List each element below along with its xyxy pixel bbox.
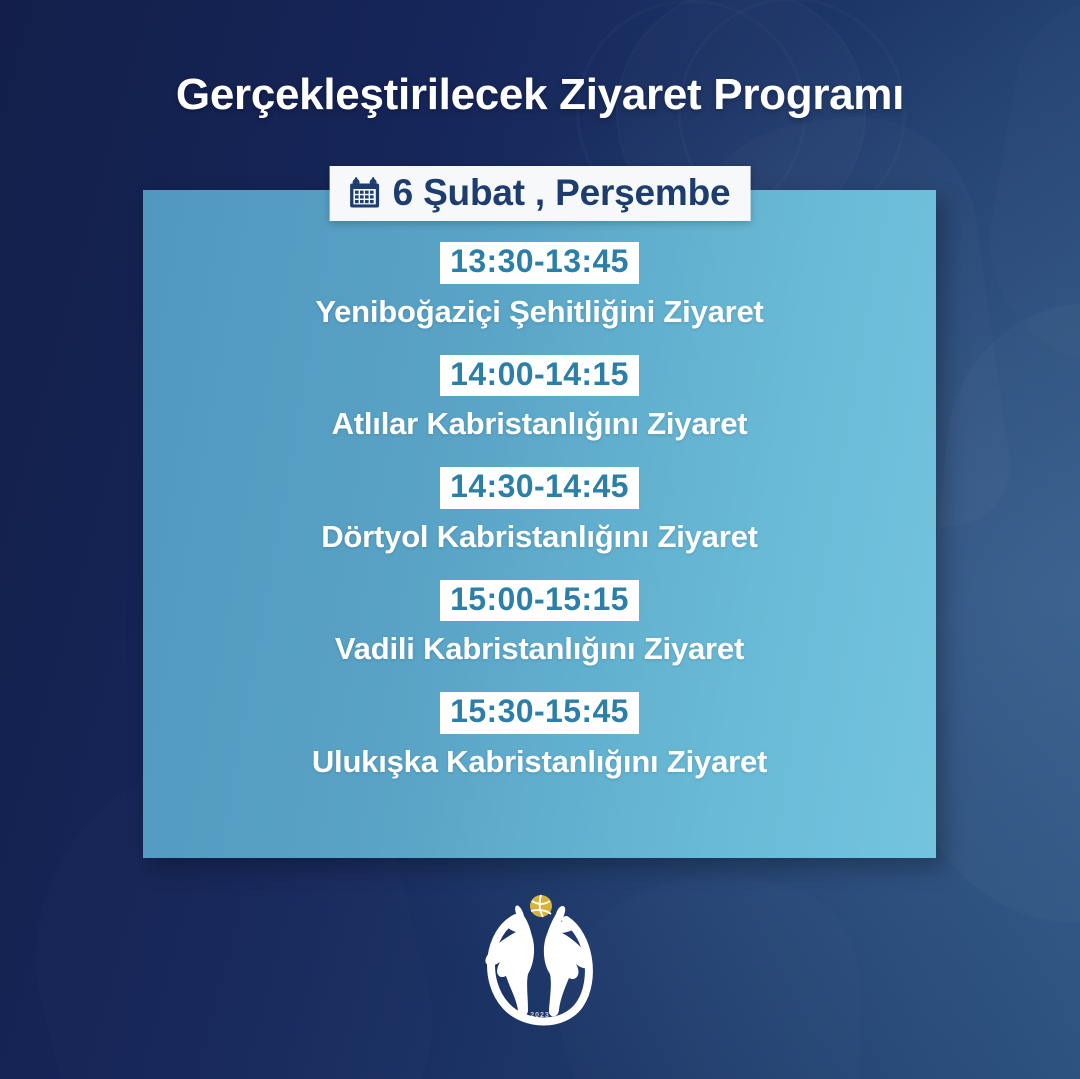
entry-time: 13:30-13:45 — [440, 242, 639, 284]
entry-place: Yeniboğaziçi Şehitliğini Ziyaret — [315, 294, 763, 330]
page-title: Gerçekleştirilecek Ziyaret Programı — [0, 70, 1080, 120]
schedule-entry: 15:00-15:15 Vadili Kabristanlığını Ziyar… — [335, 580, 744, 668]
entry-time: 15:00-15:15 — [440, 580, 639, 622]
entry-time: 14:30-14:45 — [440, 467, 639, 509]
calendar-icon — [348, 176, 382, 210]
entry-place: Vadili Kabristanlığını Ziyaret — [335, 631, 744, 667]
date-badge: 6 Şubat , Perşembe — [330, 166, 751, 221]
entry-time: 14:00-14:15 — [440, 355, 639, 397]
logo-year-label: 2023 — [530, 1012, 550, 1019]
schedule-entry: 15:30-15:45 Ulukışka Kabristanlığını Ziy… — [312, 692, 767, 780]
schedule-entry: 14:00-14:15 Atlılar Kabristanlığını Ziya… — [332, 355, 748, 443]
entry-place: Atlılar Kabristanlığını Ziyaret — [332, 406, 748, 442]
date-badge-label: 6 Şubat , Perşembe — [393, 174, 731, 211]
schedule-entry: 14:30-14:45 Dörtyol Kabristanlığını Ziya… — [321, 467, 758, 555]
entry-place: Dörtyol Kabristanlığını Ziyaret — [321, 519, 758, 555]
entry-place: Ulukışka Kabristanlığını Ziyaret — [312, 744, 767, 780]
schedule-list: 13:30-13:45 Yeniboğaziçi Şehitliğini Ziy… — [143, 242, 936, 780]
schedule-entry: 13:30-13:45 Yeniboğaziçi Şehitliğini Ziy… — [315, 242, 763, 330]
volleyball-players-logo-icon — [472, 892, 608, 1032]
entry-time: 15:30-15:45 — [440, 692, 639, 734]
